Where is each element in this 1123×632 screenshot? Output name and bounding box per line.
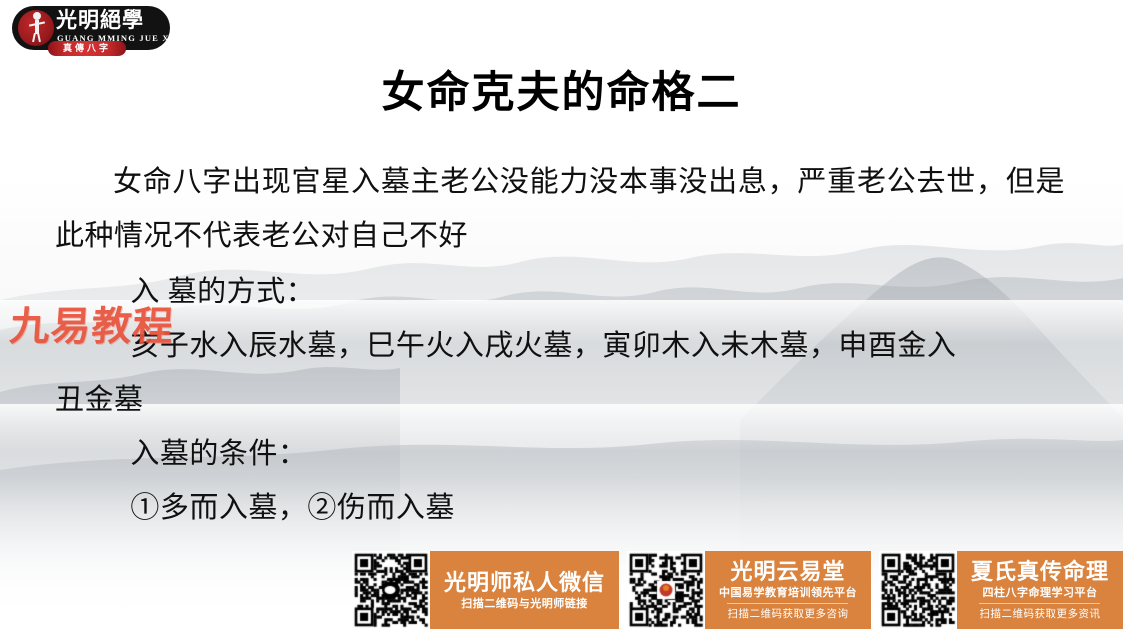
promo-block-yunyitang[interactable]: 光明云易堂 中国易学教育培训领先平台 扫描二维码获取更多咨询 <box>627 551 871 629</box>
promo-subtitle: 扫描二维码与光明师链接 <box>461 596 588 612</box>
promo-subtitle: 中国易学教育培训领先平台 <box>719 585 857 601</box>
promo-subtitle: 四柱八字命理学习平台 <box>982 585 1097 601</box>
promo-text-xiashi: 夏氏真传命理 四柱八字命理学习平台 扫描二维码获取更多资讯 <box>957 551 1123 629</box>
footer-promo-bar: 光明师私人微信 扫描二维码与光明师链接 光明云易堂 中国易学教育培训领先平台 扫… <box>0 548 1123 632</box>
body-line-method-detail-2: 丑金墓 <box>55 373 1065 427</box>
body-line-method-detail-1: 亥子水入辰水墓，巳午火入戌火墓，寅卯木入未木墓，申酉金入 <box>55 319 1065 373</box>
person-icon <box>30 12 44 42</box>
body-content: 女命八字出现官星入墓主老公没能力没本事没出息，严重老公去世，但是此种情况不代表老… <box>55 155 1065 535</box>
logo-main-text: 光明絕學 <box>56 9 144 32</box>
logo-badge: 真傳八字 <box>48 41 126 56</box>
promo-block-wechat[interactable]: 光明师私人微信 扫描二维码与光明师链接 <box>352 551 619 629</box>
body-line-condition-detail: ①多而入墓，②伤而入墓 <box>55 481 1065 535</box>
promo-title: 夏氏真传命理 <box>971 558 1109 585</box>
promo-block-xiashi[interactable]: 夏氏真传命理 四柱八字命理学习平台 扫描二维码获取更多资讯 <box>879 551 1123 629</box>
promo-scan-hint: 扫描二维码获取更多咨询 <box>727 603 848 622</box>
qr-code-wechat-personal[interactable] <box>352 551 430 629</box>
qr-code-xiashi-mingli[interactable] <box>879 551 957 629</box>
promo-text-yunyitang: 光明云易堂 中国易学教育培训领先平台 扫描二维码获取更多咨询 <box>705 551 871 629</box>
watermark-text: 九易教程 <box>8 294 176 352</box>
promo-title: 光明师私人微信 <box>444 569 605 596</box>
body-line-method-label: 入 墓的方式： <box>55 265 1065 319</box>
promo-text-wechat: 光明师私人微信 扫描二维码与光明师链接 <box>430 551 619 629</box>
page-title: 女命克夫的命格二 <box>0 58 1123 120</box>
qr-code-guangming-yunyitang[interactable] <box>627 551 705 629</box>
promo-scan-hint: 扫描二维码获取更多资讯 <box>979 603 1100 622</box>
slide-canvas: 光明絕學 GUANG MMING JUE XUE 真傳八字 女命克夫的命格二 女… <box>0 0 1123 632</box>
body-paragraph-1: 女命八字出现官星入墓主老公没能力没本事没出息，严重老公去世，但是此种情况不代表老… <box>55 155 1065 263</box>
body-line-condition-label: 入墓的条件： <box>55 427 1065 481</box>
promo-title: 光明云易堂 <box>730 558 845 585</box>
